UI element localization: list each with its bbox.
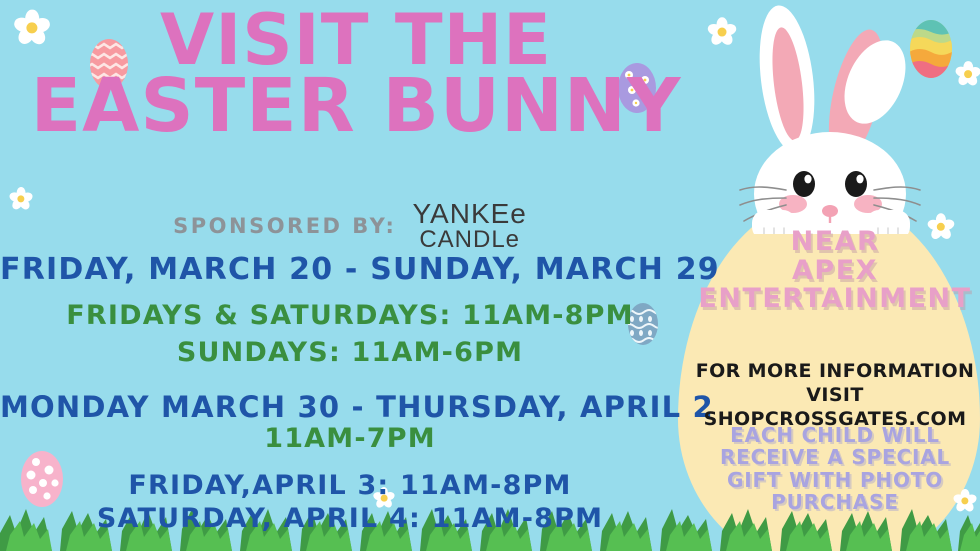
yankee-candle-logo-line-1: YANKEe [412,200,526,228]
sponsor-row: SPONSORED BY: YANKEe CANDLe [0,200,700,252]
schedule-line-2: FRIDAYS & SATURDAYS: 11AM-8PM [0,300,700,331]
daisy-flower-icon [954,60,980,88]
schedule-line-3: SUNDAYS: 11AM-6PM [0,337,700,368]
sponsored-by-label: SPONSORED BY: [173,214,396,238]
schedule-line-7: SATURDAY, APRIL 4: 11AM-8PM [0,503,700,534]
daisy-center [718,28,727,37]
bunny-icon [738,4,938,234]
location-line-1: NEAR [690,228,980,257]
title-line-2: EASTER BUNNY [0,72,712,140]
yankee-candle-logo-line-2: CANDLe [412,228,526,252]
info-line-1: FOR MORE INFORMATION [690,360,980,384]
schedule-line-6: FRIDAY,APRIL 3: 11AM-8PM [0,470,700,501]
schedule-line-1: FRIDAY, MARCH 20 - SUNDAY, MARCH 29 [0,252,700,287]
yankee-candle-logo: YANKEe CANDLe [412,200,526,252]
gift-line-4: PURCHASE [690,491,980,513]
more-information-text: FOR MORE INFORMATION VISIT SHOPCROSSGATE… [690,360,980,431]
location-line-2: APEX [690,257,980,286]
bunny-illustration [738,4,938,234]
gift-line-1: EACH CHILD WILL [690,424,980,446]
location-line-3: ENTERTAINMENT [690,285,980,314]
daisy-center [964,70,972,78]
schedule-line-4: MONDAY MARCH 30 - THURSDAY, APRIL 2 [0,390,700,424]
location-heading: NEAR APEX ENTERTAINMENT [690,228,980,314]
gift-line-3: GIFT WITH PHOTO [690,469,980,491]
page-title: VISIT THE EASTER BUNNY [0,8,712,140]
gift-note-text: EACH CHILD WILL RECEIVE A SPECIAL GIFT W… [690,424,980,514]
gift-line-2: RECEIVE A SPECIAL [690,446,980,468]
schedule-line-5: 11AM-7PM [0,423,700,454]
easter-bunny-poster: VISIT THE EASTER BUNNY SPONSORED BY: YAN… [0,0,980,551]
